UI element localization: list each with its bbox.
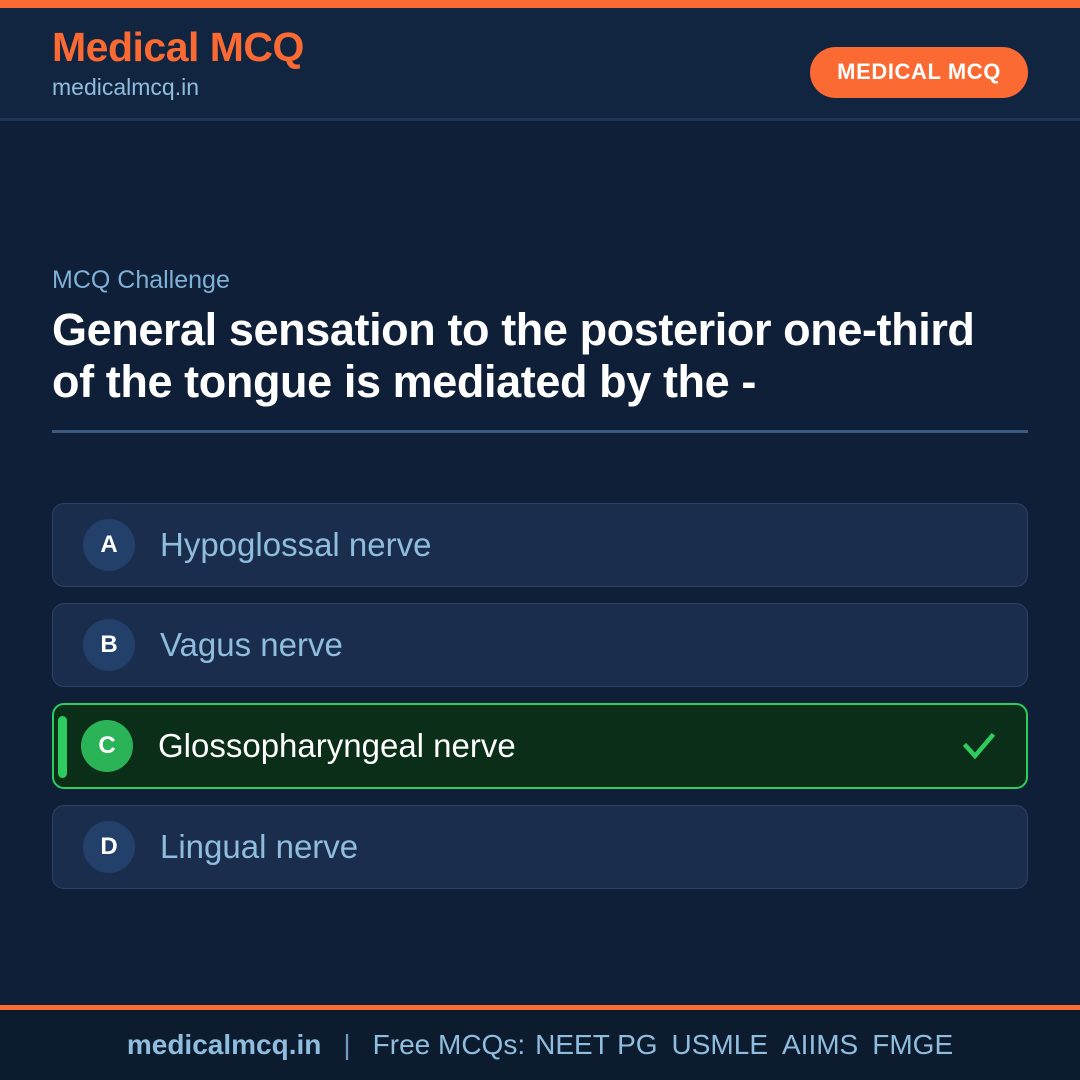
option-letter-badge: B bbox=[83, 619, 135, 671]
check-icon bbox=[961, 728, 997, 764]
header-badge: MEDICAL MCQ bbox=[810, 47, 1028, 98]
options-list: A Hypoglossal nerve B Vagus nerve C Glos… bbox=[52, 503, 1028, 889]
option-label: Vagus nerve bbox=[160, 625, 343, 665]
option-letter-badge: C bbox=[81, 720, 133, 772]
option-c[interactable]: C Glossopharyngeal nerve bbox=[52, 703, 1028, 789]
brand-title: Medical MCQ bbox=[52, 22, 304, 72]
footer-exam-usmle: USMLE bbox=[672, 1028, 768, 1062]
option-label: Glossopharyngeal nerve bbox=[158, 726, 516, 766]
question-divider bbox=[52, 430, 1028, 433]
mcq-card: Medical MCQ medicalmcq.in MEDICAL MCQ MC… bbox=[0, 0, 1080, 1080]
correct-accent-bar bbox=[58, 716, 67, 778]
top-accent-bar bbox=[0, 0, 1080, 8]
footer-label: Free MCQs: bbox=[373, 1028, 525, 1062]
header-bar: Medical MCQ medicalmcq.in MEDICAL MCQ bbox=[0, 8, 1080, 118]
option-letter-badge: A bbox=[83, 519, 135, 571]
footer-exam-fmge: FMGE bbox=[872, 1028, 953, 1062]
footer-exam-neetpg: NEET PG bbox=[535, 1028, 657, 1062]
question-block: MCQ Challenge General sensation to the p… bbox=[52, 264, 1028, 433]
brand: Medical MCQ medicalmcq.in bbox=[52, 22, 304, 102]
option-b[interactable]: B Vagus nerve bbox=[52, 603, 1028, 687]
option-label: Lingual nerve bbox=[160, 827, 358, 867]
option-d[interactable]: D Lingual nerve bbox=[52, 805, 1028, 889]
header-divider bbox=[0, 118, 1080, 121]
footer-exam-aiims: AIIMS bbox=[782, 1028, 858, 1062]
footer-bar: medicalmcq.in | Free MCQs: NEET PG USMLE… bbox=[0, 1010, 1080, 1080]
option-a[interactable]: A Hypoglossal nerve bbox=[52, 503, 1028, 587]
eyebrow-label: MCQ Challenge bbox=[52, 264, 1028, 296]
footer-separator: | bbox=[343, 1028, 350, 1062]
option-letter-badge: D bbox=[83, 821, 135, 873]
brand-subtitle: medicalmcq.in bbox=[52, 72, 304, 102]
option-label: Hypoglossal nerve bbox=[160, 525, 431, 565]
footer-site: medicalmcq.in bbox=[127, 1028, 322, 1062]
question-text: General sensation to the posterior one-t… bbox=[52, 304, 1028, 408]
